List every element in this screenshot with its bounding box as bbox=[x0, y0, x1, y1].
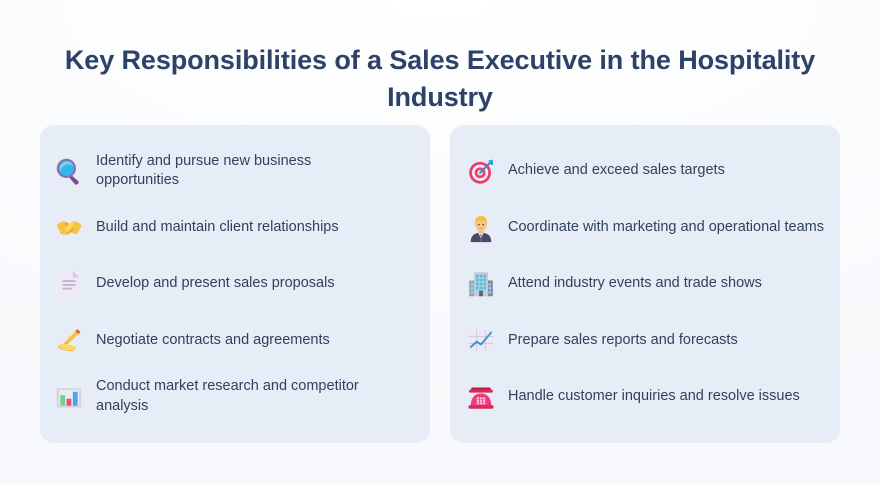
dart-target-icon bbox=[466, 156, 496, 186]
responsibilities-card-right: Achieve and exceed sales targets bbox=[450, 125, 840, 443]
list-item[interactable]: Attend industry events and trade shows bbox=[466, 256, 824, 312]
page-title: Key Responsibilities of a Sales Executiv… bbox=[45, 42, 835, 116]
writing-hand-icon bbox=[54, 325, 84, 355]
infographic-page: Key Responsibilities of a Sales Executiv… bbox=[0, 0, 880, 484]
list-item[interactable]: Coordinate with marketing and operationa… bbox=[466, 199, 824, 255]
businessperson-icon bbox=[466, 213, 496, 243]
list-item-label: Conduct market research and competitor a… bbox=[96, 377, 396, 416]
list-item[interactable]: Build and maintain client relationships bbox=[54, 199, 414, 255]
telephone-icon bbox=[466, 382, 496, 412]
list-item[interactable]: Conduct market research and competitor a… bbox=[54, 369, 414, 425]
responsibilities-card-left: Identify and pursue new business opportu… bbox=[40, 125, 430, 443]
page-document-icon bbox=[54, 269, 84, 299]
chart-increasing-icon bbox=[466, 325, 496, 355]
office-building-icon bbox=[466, 269, 496, 299]
list-item[interactable]: Develop and present sales proposals bbox=[54, 256, 414, 312]
cards-container: Identify and pursue new business opportu… bbox=[40, 125, 840, 443]
list-item[interactable]: Handle customer inquiries and resolve is… bbox=[466, 369, 824, 425]
list-item[interactable]: Achieve and exceed sales targets bbox=[466, 143, 824, 199]
list-item-label: Negotiate contracts and agreements bbox=[96, 331, 330, 351]
list-item-label: Attend industry events and trade shows bbox=[508, 274, 762, 294]
magnifying-glass-icon bbox=[54, 156, 84, 186]
bar-chart-icon bbox=[54, 382, 84, 412]
list-item-label: Coordinate with marketing and operationa… bbox=[508, 218, 824, 238]
list-item-label: Build and maintain client relationships bbox=[96, 218, 339, 238]
list-item-label: Develop and present sales proposals bbox=[96, 274, 335, 294]
list-item-label: Handle customer inquiries and resolve is… bbox=[508, 387, 800, 407]
list-item[interactable]: Prepare sales reports and forecasts bbox=[466, 312, 824, 368]
list-item-label: Achieve and exceed sales targets bbox=[508, 161, 725, 181]
handshake-icon bbox=[54, 213, 84, 243]
list-item-label: Identify and pursue new business opportu… bbox=[96, 152, 396, 191]
list-item-label: Prepare sales reports and forecasts bbox=[508, 331, 738, 351]
page-title-container: Key Responsibilities of a Sales Executiv… bbox=[0, 24, 880, 134]
list-item[interactable]: Identify and pursue new business opportu… bbox=[54, 143, 414, 199]
list-item[interactable]: Negotiate contracts and agreements bbox=[54, 312, 414, 368]
